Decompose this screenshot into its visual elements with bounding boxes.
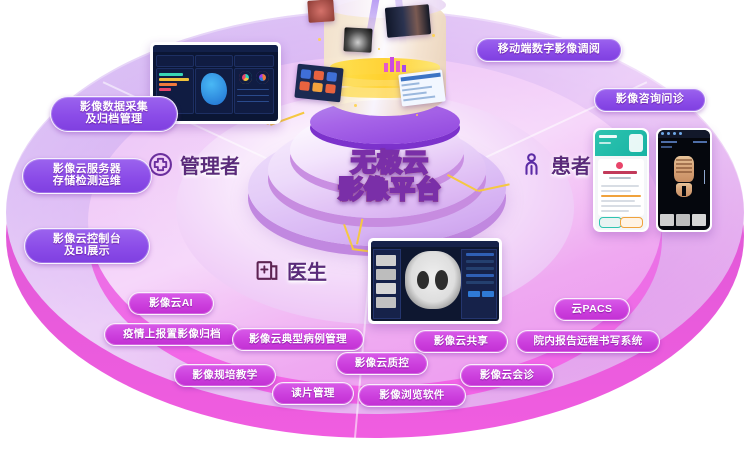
pill-doctor-5[interactable]: 影像云质控 [336, 352, 428, 375]
pill-doctor-0[interactable]: 影像云AI [128, 292, 214, 315]
role-doctor[interactable]: 医生 [255, 256, 327, 285]
pill-doctor-8[interactable]: 影像云会诊 [460, 364, 554, 387]
device-ct-viewer[interactable] [368, 238, 502, 324]
tower-screen-endoscopy [307, 0, 334, 23]
pill-doctor-10[interactable]: 院内报告远程书写系统 [516, 330, 660, 353]
device-phone-consult[interactable] [593, 128, 649, 232]
central-3d-tower [300, 0, 470, 144]
pill-doctor-6[interactable]: 影像浏览软件 [358, 384, 466, 407]
pill-doctor-3[interactable]: 影像规培教学 [174, 364, 276, 387]
tower-screen-report-table [398, 69, 446, 106]
pill-admin-1[interactable]: 影像云服务器 存储检测运维 [22, 158, 152, 194]
sparkle [318, 38, 321, 41]
pill-doctor-9[interactable]: 云PACS [554, 298, 630, 321]
tower-bar-chart-icon [384, 56, 406, 72]
tower-screen-app-grid [294, 64, 343, 103]
pill-admin-2[interactable]: 影像云控制台 及BI展示 [24, 228, 150, 264]
role-admin[interactable]: 管理者 [148, 150, 240, 179]
pill-doctor-2[interactable]: 影像云典型病例管理 [232, 328, 364, 351]
pill-doctor-7[interactable]: 影像云共享 [414, 330, 508, 353]
platform-title-line1: 无极云 [320, 150, 460, 177]
sparkle [432, 34, 435, 37]
person-icon [519, 152, 544, 177]
role-patient-label: 患者 [551, 150, 591, 179]
pill-patient-1[interactable]: 影像咨询问诊 [594, 88, 706, 112]
medical-record-icon [255, 258, 280, 283]
role-patient[interactable]: 患者 [519, 150, 591, 179]
pill-doctor-1[interactable]: 疫情上报置影像归档 [104, 323, 240, 346]
pill-patient-0[interactable]: 移动端数字影像调阅 [476, 38, 622, 62]
sparkle [416, 114, 418, 116]
platform-title-line2: 影像平台 [320, 177, 460, 204]
tower-screen-ultrasound [343, 27, 372, 52]
sparkle [378, 48, 380, 50]
pill-doctor-4[interactable]: 读片管理 [272, 382, 354, 405]
tower-screen-xray [385, 4, 431, 38]
platform-title: 无极云 影像平台 [320, 150, 460, 204]
device-phone-3d-imaging[interactable] [656, 128, 712, 232]
role-doctor-label: 医生 [287, 256, 327, 285]
pill-admin-0[interactable]: 影像数据采集 及归档管理 [50, 96, 178, 132]
sparkle [354, 104, 357, 107]
infographic-canvas: 无极云 影像平台 管理者 患者 [0, 0, 750, 450]
role-admin-label: 管理者 [180, 150, 240, 179]
